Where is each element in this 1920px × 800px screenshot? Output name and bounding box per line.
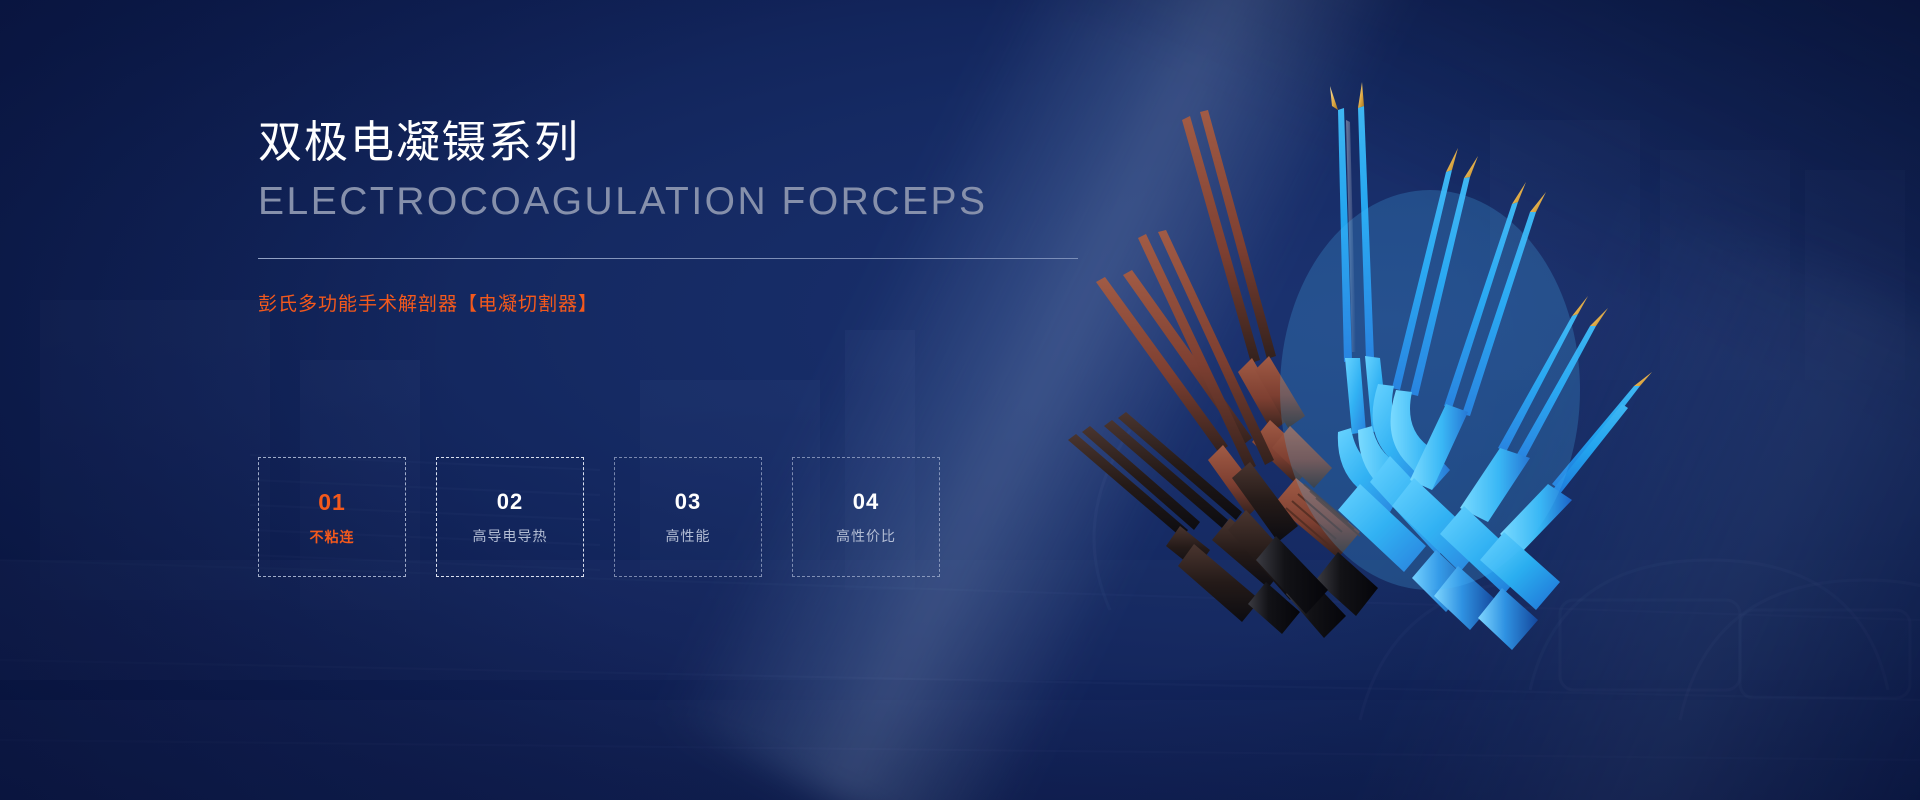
- feature-label: 高性价比: [836, 529, 896, 543]
- page-subtitle-en: ELECTROCOAGULATION FORCEPS: [258, 181, 1088, 224]
- feature-item-04[interactable]: 04 高性价比: [792, 457, 940, 577]
- page-title: 双极电凝镊系列: [258, 118, 1088, 167]
- feature-number: 02: [497, 491, 523, 513]
- divider: [258, 258, 1078, 259]
- product-description: 彭氏多功能手术解剖器【电凝切割器】: [258, 289, 1088, 316]
- feature-number: 01: [318, 491, 346, 514]
- feature-label: 高性能: [666, 529, 711, 543]
- feature-item-01[interactable]: 01 不粘连: [258, 457, 406, 577]
- banner-content: 双极电凝镊系列 ELECTROCOAGULATION FORCEPS 彭氏多功能…: [258, 118, 1088, 316]
- feature-item-02[interactable]: 02 高导电导热: [436, 457, 584, 577]
- feature-number: 03: [675, 491, 701, 513]
- product-banner: 双极电凝镊系列 ELECTROCOAGULATION FORCEPS 彭氏多功能…: [0, 0, 1920, 800]
- feature-number: 04: [853, 491, 879, 513]
- feature-label: 不粘连: [310, 530, 355, 544]
- feature-list: 01 不粘连 02 高导电导热 03 高性能 04 高性价比: [258, 457, 940, 577]
- feature-item-03[interactable]: 03 高性能: [614, 457, 762, 577]
- feature-label: 高导电导热: [473, 529, 548, 543]
